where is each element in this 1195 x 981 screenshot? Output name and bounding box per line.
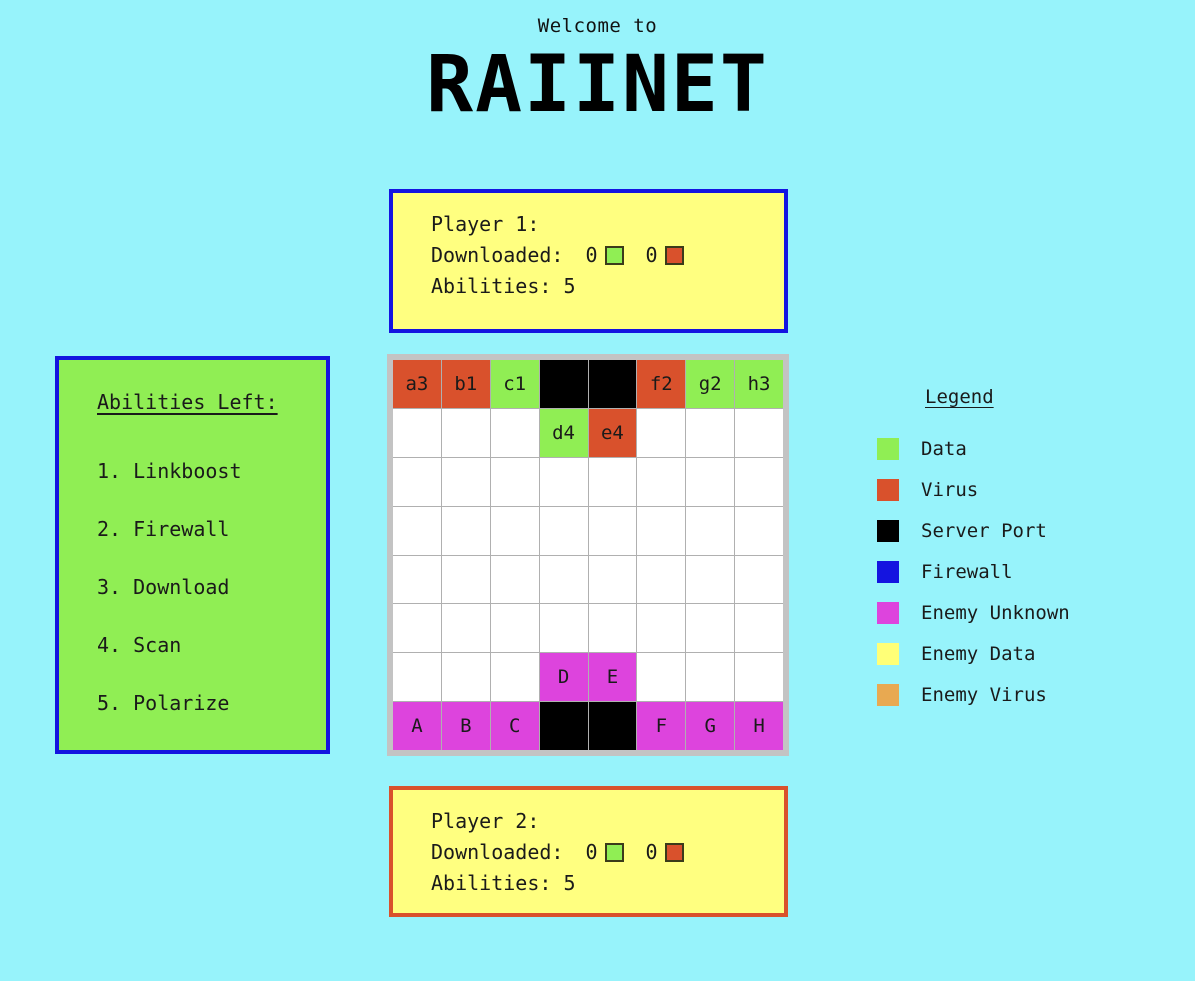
board-cell-r4c3[interactable] — [491, 507, 539, 555]
data-swatch-icon — [605, 843, 624, 862]
player2-downloaded-label: Downloaded: — [431, 837, 563, 868]
board-cell-r5c7[interactable] — [686, 556, 734, 604]
player2-name-label: Player 2: — [431, 806, 539, 837]
legend-swatch-server-port — [877, 520, 899, 542]
board-cell-r4c7[interactable] — [686, 507, 734, 555]
board-cell-r8c2[interactable]: B — [442, 702, 490, 750]
board-cell-r7c7[interactable] — [686, 653, 734, 701]
page-header: Welcome to RAIINET — [0, 14, 1195, 128]
legend-panel: Legend DataVirusServer PortFirewallEnemy… — [877, 386, 1137, 715]
legend-swatch-enemy-unknown — [877, 602, 899, 624]
board-cell-r4c6[interactable] — [637, 507, 685, 555]
player1-downloaded-row: Downloaded: 0 0 — [431, 240, 784, 271]
ability-item-4[interactable]: 4. Scan — [97, 616, 326, 674]
board-cell-r6c8[interactable] — [735, 604, 783, 652]
board-cell-r2c2[interactable] — [442, 409, 490, 457]
board-cell-label: E — [607, 666, 618, 688]
player1-downloaded-label: Downloaded: — [431, 240, 563, 271]
board-cell-r5c3[interactable] — [491, 556, 539, 604]
board-cell-r8c8[interactable]: H — [735, 702, 783, 750]
virus-swatch-icon — [665, 843, 684, 862]
page-title: RAIINET — [0, 42, 1195, 128]
player2-name: Player 2: — [431, 806, 784, 837]
board-cell-r3c5[interactable] — [589, 458, 637, 506]
board-cell-label: H — [753, 715, 764, 737]
legend-label: Server Port — [921, 520, 1047, 542]
board-cell-r1c3[interactable]: c1 — [491, 360, 539, 408]
board-cell-r1c8[interactable]: h3 — [735, 360, 783, 408]
player1-data-count: 0 — [585, 240, 597, 271]
legend-label: Enemy Unknown — [921, 602, 1070, 624]
legend-swatch-firewall — [877, 561, 899, 583]
board-cell-r5c5[interactable] — [589, 556, 637, 604]
legend-row-5: Enemy Data — [877, 633, 1137, 674]
board-cell-r3c7[interactable] — [686, 458, 734, 506]
legend-swatch-virus — [877, 479, 899, 501]
ability-item-5[interactable]: 5. Polarize — [97, 674, 326, 732]
abilities-left-panel: Abilities Left: 1. Linkboost 2. Firewall… — [55, 356, 330, 754]
board-cell-r7c1[interactable] — [393, 653, 441, 701]
legend-label: Firewall — [921, 561, 1013, 583]
board-cell-r2c1[interactable] — [393, 409, 441, 457]
legend-row-2: Server Port — [877, 510, 1137, 551]
legend-heading: Legend — [925, 386, 1137, 408]
board-cell-r1c2[interactable]: b1 — [442, 360, 490, 408]
player2-downloaded-row: Downloaded: 0 0 — [431, 837, 784, 868]
board-cell-r4c1[interactable] — [393, 507, 441, 555]
legend-row-0: Data — [877, 428, 1137, 469]
legend-row-6: Enemy Virus — [877, 674, 1137, 715]
board-cell-label: a3 — [405, 373, 428, 395]
board-cell-r5c1[interactable] — [393, 556, 441, 604]
board-cell-r7c3[interactable] — [491, 653, 539, 701]
board-cell-r8c4[interactable] — [540, 702, 588, 750]
virus-swatch-icon — [665, 246, 684, 265]
board-cell-r3c3[interactable] — [491, 458, 539, 506]
board-cell-r4c5[interactable] — [589, 507, 637, 555]
board-cell-label: c1 — [503, 373, 526, 395]
board-cell-label: C — [509, 715, 520, 737]
board-cell-label: f2 — [650, 373, 673, 395]
board-cell-r7c6[interactable] — [637, 653, 685, 701]
board-cell-r1c6[interactable]: f2 — [637, 360, 685, 408]
board-cell-r2c3[interactable] — [491, 409, 539, 457]
legend-label: Data — [921, 438, 967, 460]
legend-swatch-enemy-data — [877, 643, 899, 665]
board-cell-r3c4[interactable] — [540, 458, 588, 506]
board-cell-r3c6[interactable] — [637, 458, 685, 506]
ability-item-2[interactable]: 2. Firewall — [97, 500, 326, 558]
board-cell-r3c1[interactable] — [393, 458, 441, 506]
player1-virus-count: 0 — [646, 240, 658, 271]
board-cell-r4c2[interactable] — [442, 507, 490, 555]
board-cell-r5c8[interactable] — [735, 556, 783, 604]
ability-item-1[interactable]: 1. Linkboost — [97, 442, 326, 500]
board-cell-r2c8[interactable] — [735, 409, 783, 457]
game-board: a3b1c1f2g2h3d4e4DEABCFGH — [387, 354, 789, 756]
board-cell-label: h3 — [748, 373, 771, 395]
player2-status-panel: Player 2: Downloaded: 0 0 Abilities: 5 — [389, 786, 788, 917]
legend-label: Enemy Virus — [921, 684, 1047, 706]
board-cell-r7c8[interactable] — [735, 653, 783, 701]
board-cell-r3c2[interactable] — [442, 458, 490, 506]
board-cell-r8c7[interactable]: G — [686, 702, 734, 750]
board-cell-r4c8[interactable] — [735, 507, 783, 555]
board-cell-r6c3[interactable] — [491, 604, 539, 652]
player1-abilities-label: Abilities: 5 — [431, 271, 576, 302]
board-cell-label: G — [704, 715, 715, 737]
ability-item-3[interactable]: 3. Download — [97, 558, 326, 616]
board-cell-r2c4[interactable]: d4 — [540, 409, 588, 457]
board-grid: a3b1c1f2g2h3d4e4DEABCFGH — [393, 360, 783, 750]
board-cell-r8c5[interactable] — [589, 702, 637, 750]
board-cell-r6c1[interactable] — [393, 604, 441, 652]
board-cell-label: b1 — [454, 373, 477, 395]
legend-row-4: Enemy Unknown — [877, 592, 1137, 633]
board-cell-r5c4[interactable] — [540, 556, 588, 604]
board-cell-r1c4[interactable] — [540, 360, 588, 408]
board-cell-label: F — [656, 715, 667, 737]
legend-swatch-data — [877, 438, 899, 460]
player2-abilities-label: Abilities: 5 — [431, 868, 576, 899]
player1-name: Player 1: — [431, 209, 784, 240]
board-cell-r8c1[interactable]: A — [393, 702, 441, 750]
board-cell-r4c4[interactable] — [540, 507, 588, 555]
board-cell-label: B — [460, 715, 471, 737]
board-cell-r7c4[interactable]: D — [540, 653, 588, 701]
data-swatch-icon — [605, 246, 624, 265]
board-cell-r8c3[interactable]: C — [491, 702, 539, 750]
board-cell-label: e4 — [601, 422, 624, 444]
board-cell-label: D — [558, 666, 569, 688]
board-cell-label: g2 — [699, 373, 722, 395]
board-cell-r6c4[interactable] — [540, 604, 588, 652]
board-cell-r6c7[interactable] — [686, 604, 734, 652]
board-cell-r1c1[interactable]: a3 — [393, 360, 441, 408]
board-cell-label: A — [411, 715, 422, 737]
welcome-text: Welcome to — [0, 14, 1195, 38]
abilities-heading: Abilities Left: — [97, 390, 326, 414]
player1-name-label: Player 1: — [431, 209, 539, 240]
player2-abilities: Abilities: 5 — [431, 868, 784, 899]
board-cell-r5c6[interactable] — [637, 556, 685, 604]
board-cell-r1c7[interactable]: g2 — [686, 360, 734, 408]
board-cell-r8c6[interactable]: F — [637, 702, 685, 750]
legend-rows: DataVirusServer PortFirewallEnemy Unknow… — [877, 428, 1137, 715]
legend-row-3: Firewall — [877, 551, 1137, 592]
player2-virus-count: 0 — [646, 837, 658, 868]
legend-row-1: Virus — [877, 469, 1137, 510]
board-cell-r6c5[interactable] — [589, 604, 637, 652]
legend-label: Enemy Data — [921, 643, 1035, 665]
board-cell-r7c5[interactable]: E — [589, 653, 637, 701]
board-cell-r2c6[interactable] — [637, 409, 685, 457]
board-cell-r1c5[interactable] — [589, 360, 637, 408]
board-cell-r2c7[interactable] — [686, 409, 734, 457]
player1-status-panel: Player 1: Downloaded: 0 0 Abilities: 5 — [389, 189, 788, 333]
legend-swatch-enemy-virus — [877, 684, 899, 706]
board-cell-r6c2[interactable] — [442, 604, 490, 652]
board-cell-r3c8[interactable] — [735, 458, 783, 506]
board-cell-label: d4 — [552, 422, 575, 444]
legend-label: Virus — [921, 479, 978, 501]
board-cell-r5c2[interactable] — [442, 556, 490, 604]
board-cell-r7c2[interactable] — [442, 653, 490, 701]
board-cell-r2c5[interactable]: e4 — [589, 409, 637, 457]
player1-abilities: Abilities: 5 — [431, 271, 784, 302]
board-cell-r6c6[interactable] — [637, 604, 685, 652]
player2-data-count: 0 — [585, 837, 597, 868]
